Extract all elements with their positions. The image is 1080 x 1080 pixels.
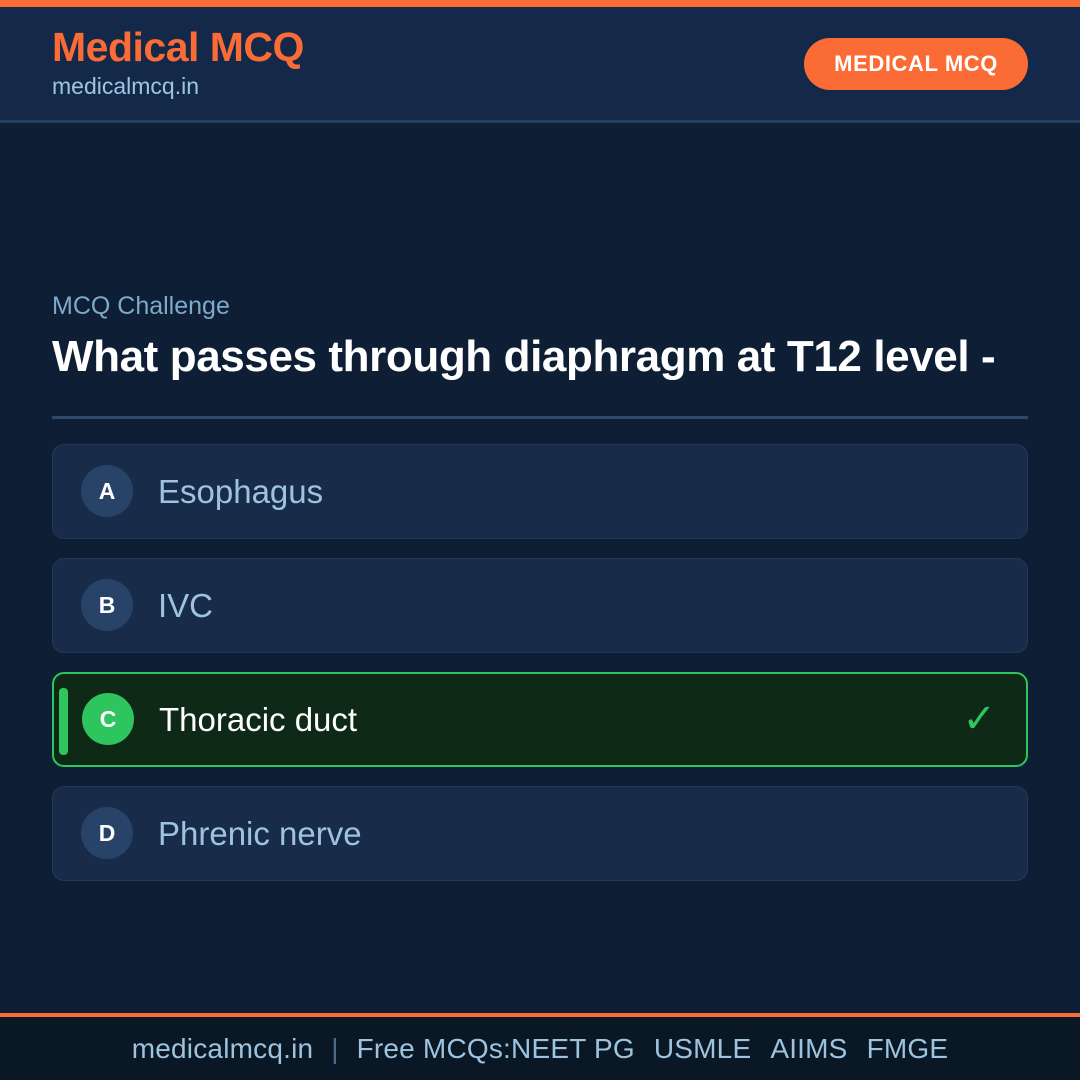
question-block: MCQ Challenge What passes through diaphr…	[52, 291, 1028, 383]
option-letter-badge: D	[81, 807, 133, 859]
footer-separator: |	[313, 1033, 356, 1065]
footer-site: medicalmcq.in	[132, 1033, 314, 1065]
option-label: Esophagus	[158, 472, 997, 512]
option-b[interactable]: BIVC	[52, 558, 1028, 653]
question-kicker: MCQ Challenge	[52, 291, 1028, 321]
footer-exam-aiims: AIIMS	[770, 1033, 847, 1065]
main-content: MCQ Challenge What passes through diaphr…	[0, 123, 1080, 1013]
footer: medicalmcq.in | Free MCQs: NEET PGUSMLEA…	[0, 1013, 1080, 1080]
brand-subtitle: medicalmcq.in	[52, 72, 304, 102]
brand-title: Medical MCQ	[52, 26, 304, 69]
option-letter-badge: A	[81, 465, 133, 517]
option-label: IVC	[158, 586, 997, 626]
footer-exam-usmle: USMLE	[654, 1033, 751, 1065]
footer-exam-neet-pg: NEET PG	[511, 1033, 635, 1065]
option-letter-badge: C	[82, 693, 134, 745]
option-d[interactable]: DPhrenic nerve	[52, 786, 1028, 881]
brand-badge: MEDICAL MCQ	[804, 38, 1028, 90]
header: Medical MCQ medicalmcq.in MEDICAL MCQ	[0, 7, 1080, 123]
correct-accent-bar	[59, 688, 68, 755]
brand-block: Medical MCQ medicalmcq.in	[52, 26, 304, 102]
question-text: What passes through diaphragm at T12 lev…	[52, 331, 1012, 383]
top-accent-bar	[0, 0, 1080, 7]
footer-free-label: Free MCQs:	[357, 1033, 511, 1065]
check-icon: ✓	[962, 699, 996, 739]
options-list: AEsophagusBIVCCThoracic duct✓DPhrenic ne…	[52, 444, 1028, 881]
option-c[interactable]: CThoracic duct✓	[52, 672, 1028, 767]
option-label: Thoracic duct	[159, 700, 962, 740]
footer-exam-fmge: FMGE	[867, 1033, 949, 1065]
option-label: Phrenic nerve	[158, 814, 997, 854]
option-a[interactable]: AEsophagus	[52, 444, 1028, 539]
question-divider	[52, 416, 1028, 419]
footer-exam-list: NEET PGUSMLEAIIMSFMGE	[511, 1033, 948, 1065]
option-letter-badge: B	[81, 579, 133, 631]
mcq-card: Medical MCQ medicalmcq.in MEDICAL MCQ MC…	[0, 0, 1080, 1080]
